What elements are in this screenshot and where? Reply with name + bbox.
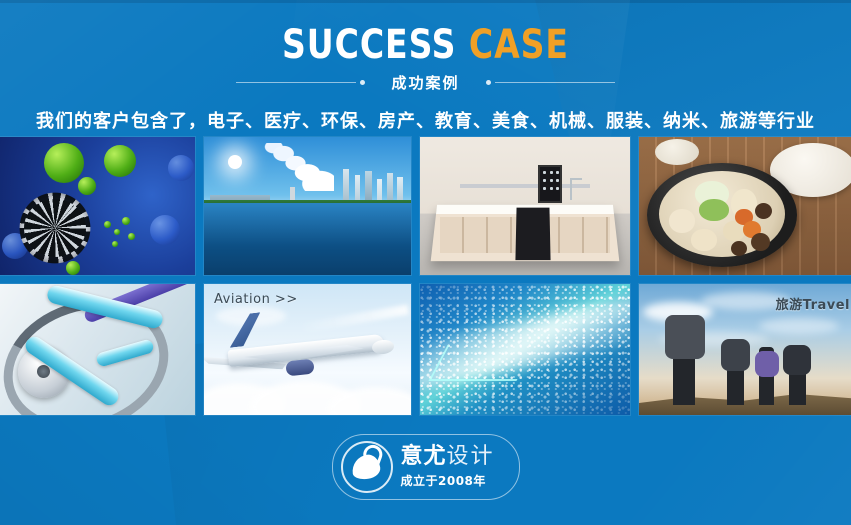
subtitle-cn: 成功案例 [391,72,459,93]
page-title-secondary: CASE [469,22,569,68]
logo-name-thin: 设计 [447,444,495,469]
hotpot-food-image [639,137,851,275]
industries-lead-text: 我们的客户包含了，电子、医疗、环保、房产、教育、美食、机械、服装、纳米、旅游等行… [0,107,851,133]
gallery-tile-nanotechnology[interactable] [0,137,195,275]
gallery-tile-electronics[interactable] [420,284,630,415]
divider-line-left [236,82,356,83]
bird-mark-icon [341,441,393,493]
nanotechnology-image [0,137,195,275]
divider-line-right [495,82,615,83]
gallery-tile-environmental[interactable] [204,137,411,275]
divider-dot-left [360,80,365,85]
promo-banner: SUCCESS CASE 成功案例 我们的客户包含了，电子、医疗、环保、房产、教… [0,0,851,525]
page-title-primary: SUCCESS [282,22,456,68]
gallery-tile-food[interactable] [639,137,851,275]
banner-header: SUCCESS CASE 成功案例 我们的客户包含了，电子、医疗、环保、房产、教… [0,0,851,133]
page-title: SUCCESS CASE [34,24,817,66]
environmental-plant-image [204,137,411,275]
logo-tagline: 成立于2008年 [401,472,495,489]
gallery-tile-travel[interactable]: 旅游Travel [639,284,851,415]
medical-stethoscope-image [0,284,195,415]
gallery-tile-medical[interactable] [0,284,195,415]
lab-control-panel-icon [538,165,562,203]
subtitle-row: 成功案例 [0,72,851,93]
divider-dot-right [486,80,491,85]
gallery-tile-laboratory[interactable] [420,137,630,275]
case-gallery: Aviation >> [0,137,851,415]
tile-caption: 旅游Travel [776,294,850,313]
logo-name: 意尤设计 [401,445,495,470]
logo-text-group: 意尤设计 成立于2008年 [401,445,495,489]
logo-name-bold: 意尤 [401,444,447,469]
electronics-circuit-image [420,284,630,415]
tile-caption: Aviation >> [214,292,298,307]
gallery-tile-aviation[interactable]: Aviation >> [204,284,411,415]
laboratory-bench-image [420,137,630,275]
company-logo[interactable]: 意尤设计 成立于2008年 [332,434,520,500]
